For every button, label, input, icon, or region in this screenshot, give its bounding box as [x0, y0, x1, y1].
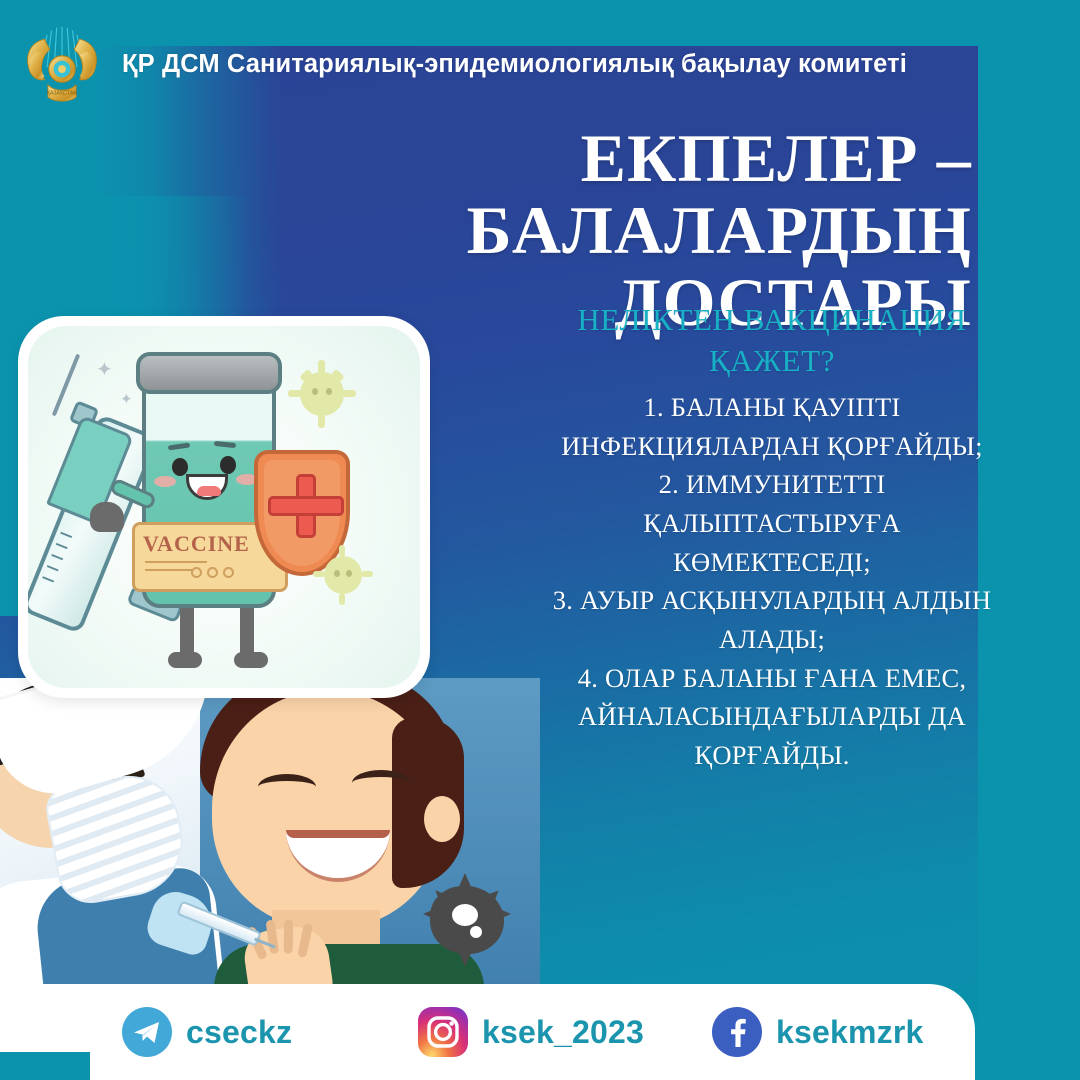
instagram-handle[interactable]: ksek_2023: [482, 1014, 644, 1051]
vaccine-vial-cap: [136, 352, 282, 394]
reasons-heading: НЕЛІКТЕН ВАКЦИНАЦИЯ ҚАЖЕТ?: [546, 300, 998, 382]
facebook-icon[interactable]: [712, 1007, 762, 1057]
virus-icon: [324, 556, 362, 594]
germ-character: [430, 886, 504, 954]
mascot-foot: [168, 652, 202, 668]
virus-icon: [300, 372, 344, 416]
child-eye-right: [352, 770, 410, 796]
mascot-foot: [234, 652, 268, 668]
telegram-icon[interactable]: [122, 1007, 172, 1057]
facebook-handle[interactable]: ksekmzrk: [776, 1014, 924, 1051]
child-ear: [424, 796, 460, 842]
vaccine-mascot-illustration: ✦ ✦: [28, 326, 420, 688]
reason-item: 1. БАЛАНЫ ҚАУІПТІ ИНФЕКЦИЯЛАРДАН ҚОРҒАЙД…: [546, 388, 998, 465]
footer-accent-block: [0, 1052, 90, 1080]
svg-text:ҚАЗАҚСТАН: ҚАЗАҚСТАН: [47, 91, 77, 97]
reason-item: 2. ИММУНИТЕТТІ ҚАЛЫПТАСТЫРУҒА КӨМЕКТЕСЕД…: [546, 465, 998, 581]
header-bar: ҚАЗАҚСТАН ҚР ДСМ Санитариялық-эпидемиоло…: [0, 0, 1080, 120]
illustration-stack: ✦ ✦: [0, 300, 560, 1010]
kazakhstan-coat-of-arms-icon: ҚАЗАҚСТАН: [18, 16, 106, 108]
nurse-vaccinating-child-photo: [0, 678, 540, 1003]
telegram-handle[interactable]: cseckz: [186, 1014, 292, 1051]
vaccine-label-text: VACCINE: [143, 531, 250, 557]
instagram-icon[interactable]: [418, 1007, 468, 1057]
social-facebook[interactable]: ksekmzrk: [712, 1007, 924, 1057]
reason-item: 4. ОЛАР БАЛАНЫ ҒАНА ЕМЕС, АЙНАЛАСЫНДАҒЫЛ…: [546, 659, 998, 775]
mascot-hand: [90, 502, 124, 532]
red-cross-icon: [268, 496, 344, 516]
sparkle-icon: ✦: [96, 360, 113, 380]
child-eye-left: [258, 774, 316, 800]
page-title-line-1: ЕКПЕЛЕР – БАЛАЛАРДЫҢ: [240, 122, 972, 266]
vaccine-label-dots: [191, 567, 234, 578]
reason-item: 3. АУЫР АСҚЫНУЛАРДЫҢ АЛДЫН АЛАДЫ;: [546, 581, 998, 658]
reasons-list: 1. БАЛАНЫ ҚАУІПТІ ИНФЕКЦИЯЛАРДАН ҚОРҒАЙД…: [546, 388, 998, 775]
organization-name: ҚР ДСМ Санитариялық-эпидемиологиялық бақ…: [122, 50, 962, 78]
reasons-block: НЕЛІКТЕН ВАКЦИНАЦИЯ ҚАЖЕТ? 1. БАЛАНЫ ҚАУ…: [546, 300, 998, 775]
sparkle-icon: ✦: [120, 392, 133, 407]
mascot-eye: [220, 456, 236, 474]
social-instagram[interactable]: ksek_2023: [418, 1007, 644, 1057]
vaccine-mascot-card: ✦ ✦: [18, 316, 430, 698]
mascot-blush: [154, 476, 176, 487]
footer-bar: cseckz ksek_2023 ksekmzrk: [0, 984, 975, 1080]
social-telegram[interactable]: cseckz: [122, 1007, 292, 1057]
poster-canvas: ҚАЗАҚСТАН ҚР ДСМ Санитариялық-эпидемиоло…: [0, 0, 1080, 1080]
